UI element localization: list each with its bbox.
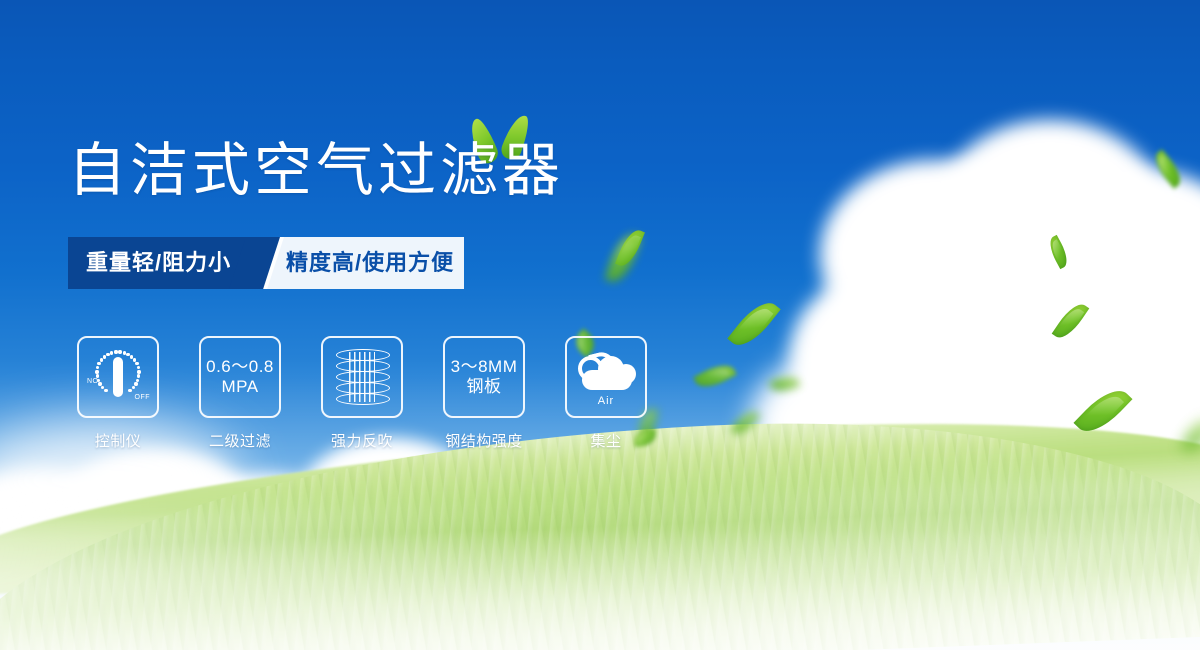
gauge-dot <box>137 366 140 369</box>
gauge-dot <box>137 370 140 373</box>
feature-icon-box <box>321 336 403 418</box>
gauge-dot <box>96 366 99 369</box>
gauge-on-label: NO <box>87 378 99 385</box>
gauge-dot <box>97 362 100 365</box>
feature-label: 钢结构强度 <box>445 430 523 451</box>
gauge-dot <box>95 370 98 373</box>
page-title: 自洁式空气过滤器 <box>68 142 564 200</box>
gauge-needle <box>113 357 123 397</box>
gauge-dot <box>106 353 109 356</box>
subtitle-left-text: 重量轻/阻力小 <box>86 237 231 289</box>
air-caption: Air <box>598 395 614 407</box>
feature-icon-text-line-1: 0.6～0.8 <box>206 357 274 377</box>
feature-icon-text-line-2: 钢板 <box>467 377 502 397</box>
gauge-dot <box>135 362 138 365</box>
gauge-dot <box>104 389 107 392</box>
feature-item-blowback: 强力反吹 <box>312 336 412 451</box>
gauge-dot <box>118 350 121 353</box>
feature-item-dust-collection: Air 集尘 <box>556 336 656 451</box>
gauge-off-label: OFF <box>135 394 151 401</box>
gauge-dot <box>114 350 117 353</box>
gauge-dot <box>103 355 106 358</box>
banner-content: 自洁式空气过滤器 重量轻/阻力小 精度高/使用方便 NO OFF <box>0 0 1200 650</box>
air-cloud-icon <box>576 348 636 394</box>
subtitle-right-text: 精度高/使用方便 <box>286 237 454 289</box>
feature-label: 集尘 <box>590 430 621 451</box>
control-gauge-icon: NO OFF <box>87 348 149 406</box>
feature-label: 强力反吹 <box>331 430 393 451</box>
gauge-dot <box>132 386 135 389</box>
filter-disc <box>336 393 390 405</box>
feature-label: 二级过滤 <box>209 430 271 451</box>
feature-item-control-gauge: NO OFF 控制仪 <box>68 336 168 451</box>
feature-item-steel-strength: 3～8MM 钢板 钢结构强度 <box>434 336 534 451</box>
gauge-dot <box>110 351 113 354</box>
feature-icon-box: 0.6～0.8 MPA <box>199 336 281 418</box>
feature-icon-box: Air <box>565 336 647 418</box>
gauge-dot <box>134 382 137 385</box>
gauge-dot <box>123 351 126 354</box>
gauge-dot <box>128 389 131 392</box>
feature-label: 控制仪 <box>95 430 142 451</box>
feature-icon-box: NO OFF <box>77 336 159 418</box>
feature-icon-text-line-2: MPA <box>221 377 258 397</box>
feature-item-pressure: 0.6～0.8 MPA 二级过滤 <box>190 336 290 451</box>
gauge-dot <box>137 374 140 377</box>
gauge-dot <box>100 358 103 361</box>
subtitle-bar: 重量轻/阻力小 精度高/使用方便 <box>68 237 464 289</box>
feature-icon-box: 3～8MM 钢板 <box>443 336 525 418</box>
filter-discs-icon <box>336 349 388 405</box>
product-hero-banner: 自洁式空气过滤器 重量轻/阻力小 精度高/使用方便 NO OFF <box>0 0 1200 650</box>
feature-icon-text-line-1: 3～8MM <box>451 357 518 377</box>
feature-list: NO OFF 控制仪 0.6～0.8 MPA 二级过滤 <box>68 336 656 451</box>
